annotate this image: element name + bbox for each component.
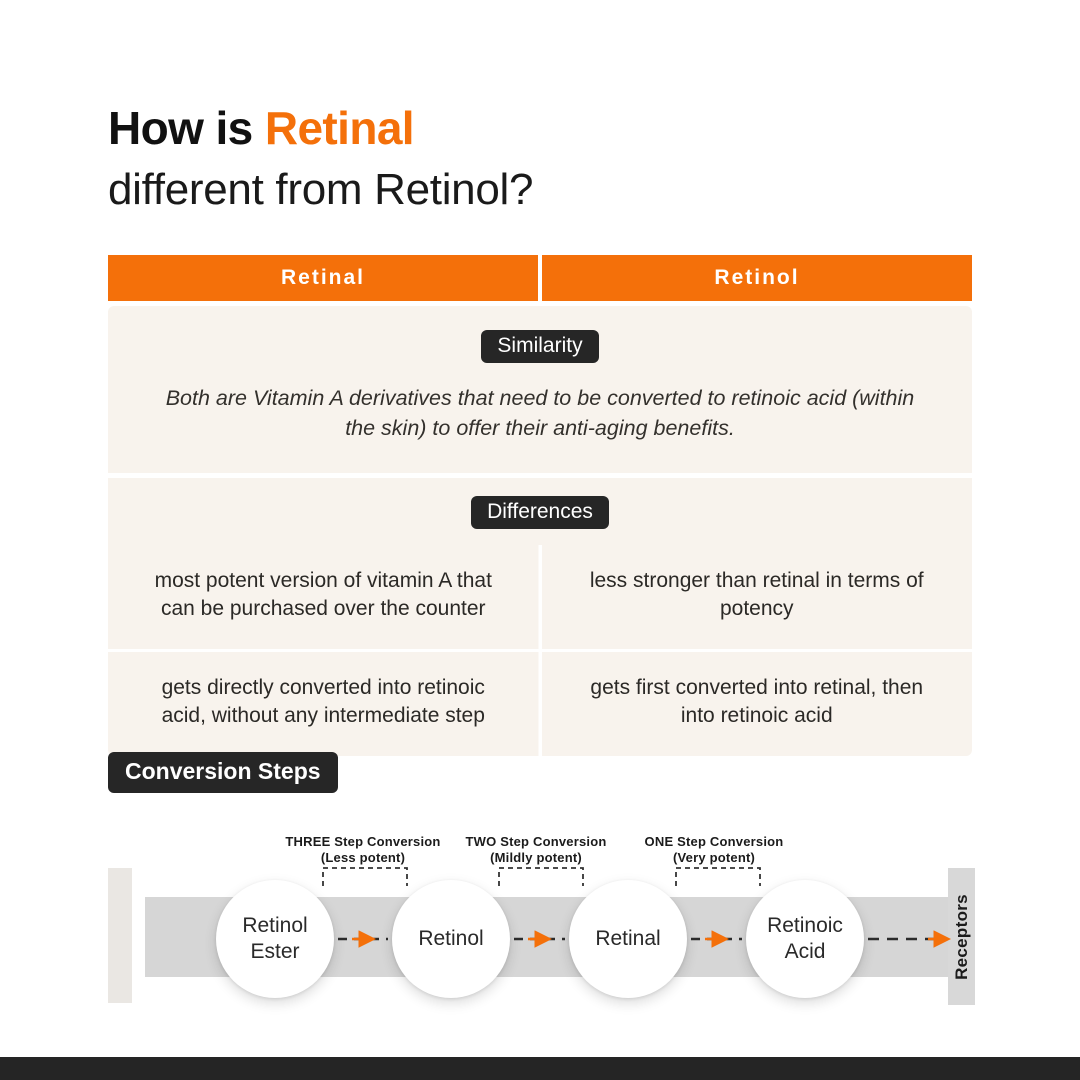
similarity-text: Both are Vitamin A derivatives that need… (160, 383, 920, 443)
comparison-header-row: Retinal Retinol (108, 255, 972, 301)
differences-badge-row: Differences (108, 496, 972, 529)
cell-retinal-difference-1: most potent version of vitamin A that ca… (108, 545, 542, 649)
comparison-table: Retinal Retinol Similarity Both are Vita… (108, 255, 972, 756)
conversion-steps-heading: Conversion Steps (108, 752, 338, 793)
differences-rows: most potent version of vitamin A that ca… (108, 545, 972, 756)
conversion-flow-diagram: THREE Step Conversion (Less potent) TWO … (0, 820, 1080, 1030)
footer-bar (0, 1057, 1080, 1080)
flow-brackets (0, 820, 1080, 1030)
cell-retinal-difference-2: gets directly converted into retinoic ac… (108, 652, 542, 756)
title-accent-retinal: Retinal (265, 102, 414, 154)
column-header-retinal: Retinal (108, 255, 538, 301)
column-header-retinol: Retinol (542, 255, 972, 301)
similarity-badge: Similarity (481, 330, 598, 363)
title-line-1: How is Retinal (108, 100, 988, 156)
similarity-panel: Similarity Both are Vitamin A derivative… (108, 306, 972, 473)
conversion-steps-badge: Conversion Steps (108, 752, 338, 793)
differences-badge: Differences (471, 496, 609, 529)
comparison-body: Similarity Both are Vitamin A derivative… (108, 306, 972, 756)
title-line-2: different from Retinol? (108, 162, 988, 218)
cell-retinol-difference-2: gets first converted into retinal, then … (542, 652, 973, 756)
column-divider-vertical (539, 545, 542, 756)
cell-retinol-difference-1: less stronger than retinal in terms of p… (542, 545, 973, 649)
bracket-three (323, 868, 407, 886)
infographic-root: How is Retinal different from Retinol? R… (0, 0, 1080, 1080)
differences-panel: Differences most potent version of vitam… (108, 478, 972, 756)
title-prefix: How is (108, 102, 265, 154)
bracket-one (676, 868, 760, 886)
page-title: How is Retinal different from Retinol? (108, 100, 988, 218)
bracket-two (499, 868, 583, 886)
